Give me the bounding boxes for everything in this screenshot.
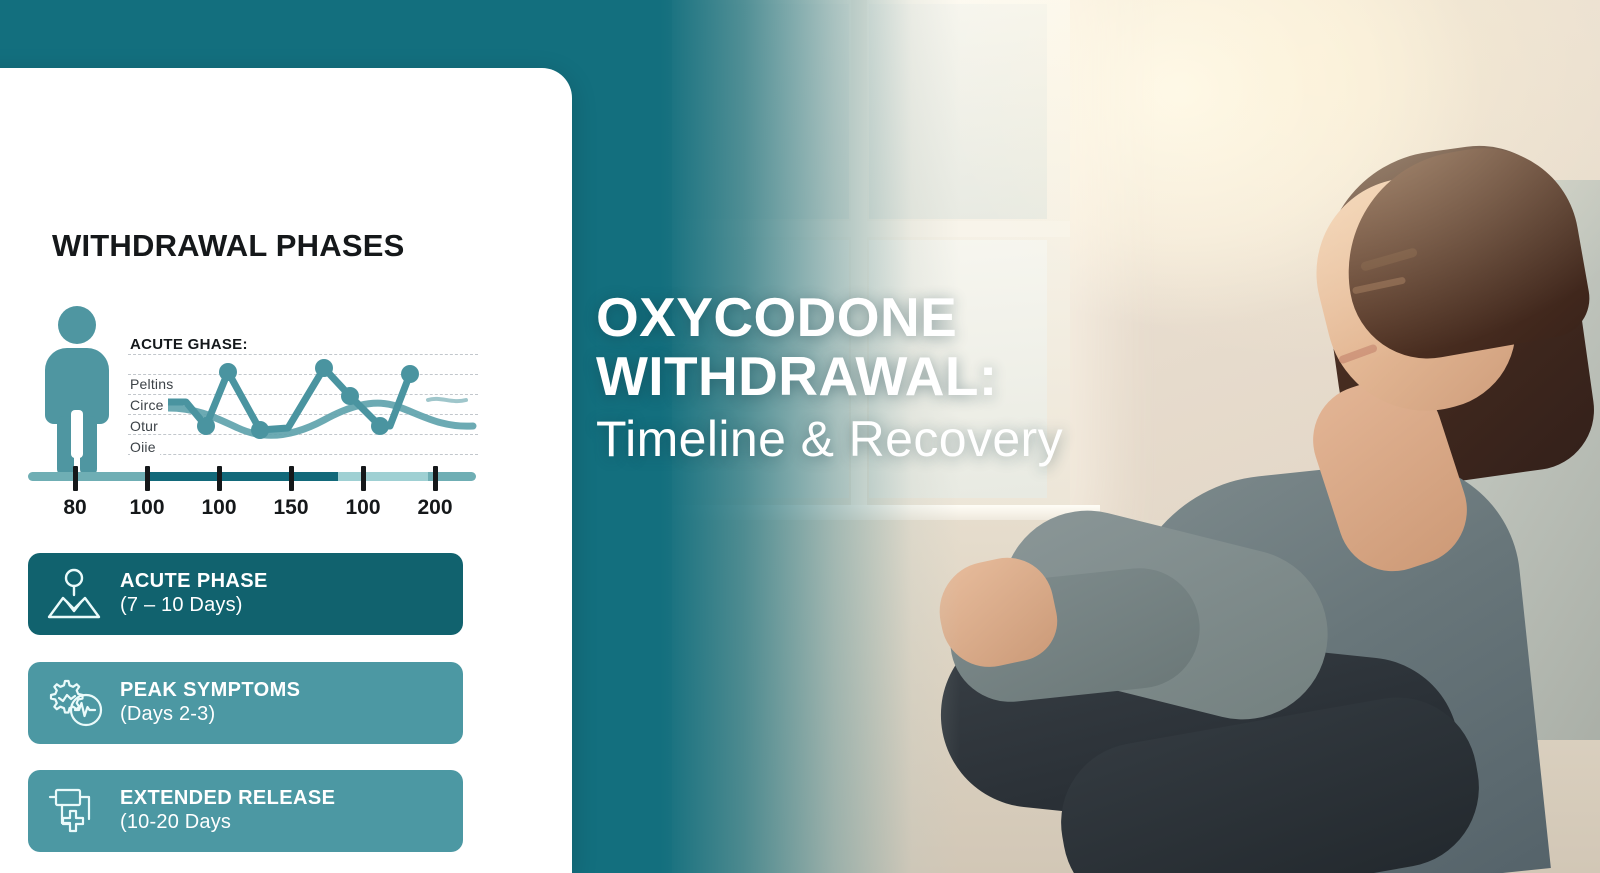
- chart-data-point: [315, 359, 333, 377]
- timeline-bar-extended: [338, 472, 428, 481]
- timeline-tick: [289, 466, 294, 491]
- timeline-tick-label: 150: [273, 496, 308, 520]
- phase-card-peak-symptoms[interactable]: PEAK SYMPTOMS (Days 2-3): [28, 662, 463, 744]
- chart-tail-squiggle: [428, 399, 466, 401]
- timeline-tick-label: 200: [417, 496, 452, 520]
- timeline-tick: [73, 466, 78, 491]
- person-pictogram-icon: [40, 306, 112, 476]
- chart-data-point: [341, 387, 359, 405]
- timeline-tick-label: 80: [63, 496, 86, 520]
- timeline-axis: 80 100 100 150 100 200: [28, 470, 476, 518]
- phase-title: EXTENDED RELEASE: [120, 787, 335, 811]
- chart-data-point: [401, 365, 419, 383]
- phase-duration: (7 – 10 Days): [120, 594, 268, 618]
- phase-card-text: PEAK SYMPTOMS (Days 2-3): [120, 679, 300, 726]
- phase-card-text: EXTENDED RELEASE (10-20 Days: [120, 787, 335, 834]
- person-head: [58, 306, 96, 344]
- chart-ytick-label: Oiie: [130, 439, 160, 455]
- page-title: WITHDRAWAL PHASES: [52, 228, 404, 264]
- timeline-tick: [433, 466, 438, 491]
- phase-duration: (10-20 Days: [120, 811, 335, 835]
- headline-subtitle: Timeline & Recovery: [596, 411, 1236, 469]
- gear-pulse-icon: [28, 677, 120, 729]
- withdrawal-line-chart: ACUTE GHASE: Peltins Circe Otur Oiie: [128, 334, 478, 466]
- chart-data-point: [219, 363, 237, 381]
- chart-title: ACUTE GHASE:: [130, 336, 253, 353]
- timeline-bar-active: [148, 472, 338, 481]
- hero-headline: OXYCODONE WITHDRAWAL: Timeline & Recover…: [596, 288, 1236, 468]
- phase-card-acute[interactable]: ACUTE PHASE (7 – 10 Days): [28, 553, 463, 635]
- person-leg-gap: [71, 410, 83, 458]
- headline-line-1: OXYCODONE: [596, 288, 1236, 347]
- location-pin-mountain-icon: [28, 568, 120, 620]
- phase-card-text: ACUTE PHASE (7 – 10 Days): [120, 570, 268, 617]
- withdrawal-phases-card: WITHDRAWAL PHASES: [0, 68, 572, 873]
- chart-ytick-label: Otur: [130, 418, 162, 434]
- timeline-tick: [145, 466, 150, 491]
- chart-data-point: [251, 421, 269, 439]
- timeline-tick: [361, 466, 366, 491]
- phase-card-extended-release[interactable]: EXTENDED RELEASE (10-20 Days: [28, 770, 463, 852]
- phase-title: ACUTE PHASE: [120, 570, 268, 594]
- chart-data-point: [371, 417, 389, 435]
- timeline-tick-label: 100: [345, 496, 380, 520]
- chart-ytick-label: Circe: [130, 397, 168, 413]
- flowchart-plus-icon: [28, 785, 120, 837]
- phase-title: PEAK SYMPTOMS: [120, 679, 300, 703]
- chart-plot: [128, 334, 478, 466]
- chart-data-point: [197, 417, 215, 435]
- headline-line-2: WITHDRAWAL:: [596, 347, 1236, 406]
- timeline-tick: [217, 466, 222, 491]
- phase-duration: (Days 2-3): [120, 703, 300, 727]
- timeline-tick-label: 100: [201, 496, 236, 520]
- timeline-tick-label: 100: [129, 496, 164, 520]
- chart-ytick-label: Peltins: [130, 376, 177, 392]
